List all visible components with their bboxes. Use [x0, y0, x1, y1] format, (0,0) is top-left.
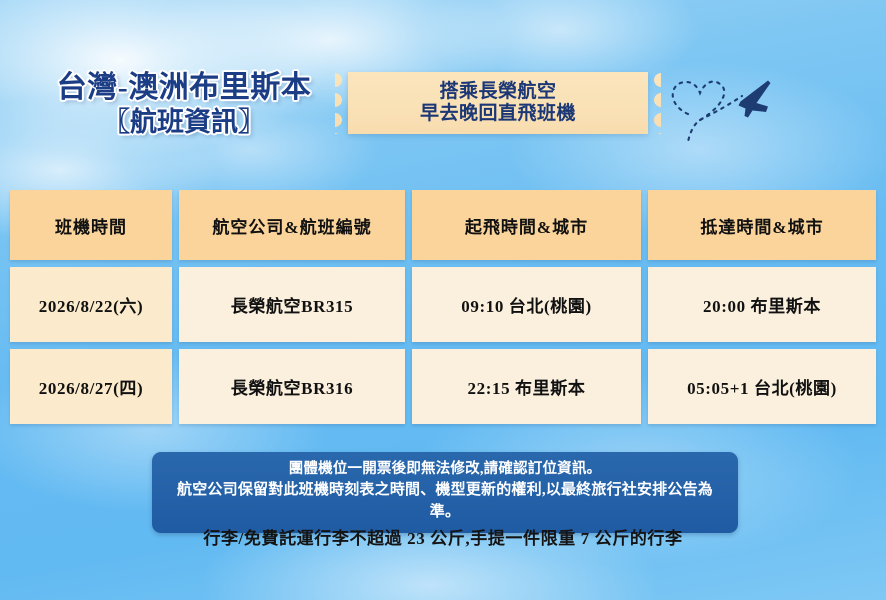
cell-arrival: 20:00 布里斯本	[648, 267, 876, 342]
cell-arrival: 05:05+1 台北(桃園)	[648, 349, 876, 424]
flight-table: 班機時間 航空公司&航班編號 起飛時間&城市 抵達時間&城市 2026/8/22…	[10, 190, 876, 431]
title-sub-text: 〖航班資訊〗	[34, 108, 334, 136]
table-header-row: 班機時間 航空公司&航班編號 起飛時間&城市 抵達時間&城市	[10, 190, 876, 260]
airplane-icon	[656, 62, 786, 148]
baggage-note: 行李/免費託運行李不超過 23 公斤,手提一件限重 7 公斤的行李	[0, 524, 886, 549]
poster-canvas: 台灣-澳洲布里斯本 〖航班資訊〗 搭乘長榮航空 早去晚回直飛班機 班機時間 航空…	[0, 0, 886, 600]
notice-line-1: 團體機位一開票後即無法修改,請確認訂位資訊。	[164, 459, 726, 480]
cell-flight-date: 2026/8/27(四)	[10, 349, 172, 424]
cell-airline-flightno: 長榮航空BR315	[179, 267, 405, 342]
promo-ribbon-banner: 搭乘長榮航空 早去晚回直飛班機	[348, 72, 648, 134]
cell-airline-flightno: 長榮航空BR316	[179, 349, 405, 424]
ribbon-line-1: 搭乘長榮航空	[439, 81, 556, 103]
cell-departure: 09:10 台北(桃園)	[412, 267, 641, 342]
ribbon-line-2: 早去晚回直飛班機	[420, 103, 576, 125]
notice-line-2: 航空公司保留對此班機時刻表之時間、機型更新的權利,以最終旅行社安排公告為準。	[164, 480, 726, 524]
column-header-arrival: 抵達時間&城市	[648, 190, 876, 260]
cell-departure: 22:15 布里斯本	[412, 349, 641, 424]
column-header-airline-flightno: 航空公司&航班編號	[179, 190, 405, 260]
page-title: 台灣-澳洲布里斯本 〖航班資訊〗	[34, 72, 334, 136]
table-row: 2026/8/22(六) 長榮航空BR315 09:10 台北(桃園) 20:0…	[10, 267, 876, 342]
dotted-heart-trail-icon	[673, 82, 742, 142]
notice-box: 團體機位一開票後即無法修改,請確認訂位資訊。 航空公司保留對此班機時刻表之時間、…	[152, 452, 738, 533]
title-main-text: 台灣-澳洲布里斯本	[34, 72, 334, 104]
cell-flight-date: 2026/8/22(六)	[10, 267, 172, 342]
airplane-glyph	[739, 81, 771, 118]
table-row: 2026/8/27(四) 長榮航空BR316 22:15 布里斯本 05:05+…	[10, 349, 876, 424]
column-header-flight-date: 班機時間	[10, 190, 172, 260]
column-header-departure: 起飛時間&城市	[412, 190, 641, 260]
